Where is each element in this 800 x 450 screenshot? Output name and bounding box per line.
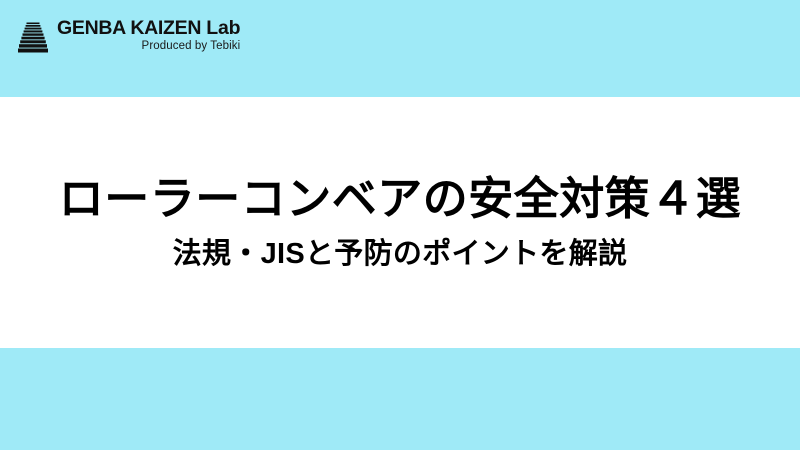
brand-name-primary: GENBA KAIZEN	[57, 17, 201, 39]
title-slide: GENBA KAIZEN Lab Produced by Tebiki ローラー…	[0, 0, 800, 450]
headline-block: ローラーコンベアの安全対策４選 法規・JISと予防のポイントを解説	[0, 97, 800, 348]
slide-subtitle: 法規・JISと予防のポイントを解説	[173, 238, 628, 271]
brand-text-block: GENBA KAIZEN Lab Produced by Tebiki	[57, 18, 240, 56]
bottom-color-band	[0, 348, 800, 450]
brand-name: GENBA KAIZEN Lab	[57, 18, 240, 38]
brand-tagline: Produced by Tebiki	[142, 38, 241, 55]
brand-name-secondary: Lab	[206, 17, 240, 39]
slide-title: ローラーコンベアの安全対策４選	[59, 174, 742, 224]
brand-lockup: GENBA KAIZEN Lab Produced by Tebiki	[18, 18, 240, 56]
ziggurat-stack-icon	[18, 22, 48, 54]
